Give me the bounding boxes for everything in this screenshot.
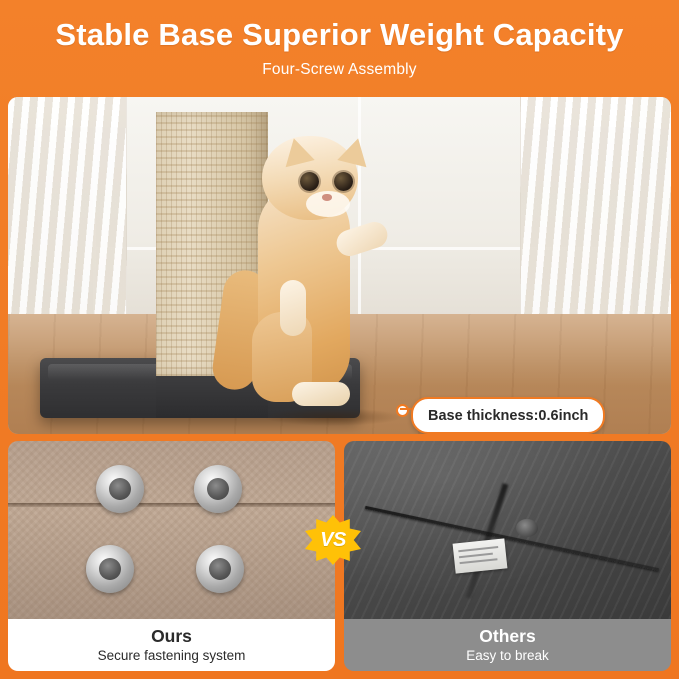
ours-base-seam — [8, 503, 335, 507]
others-label: Others Easy to break — [344, 619, 671, 671]
ours-subtitle: Secure fastening system — [98, 647, 246, 665]
comparison-panel-ours: Ours Secure fastening system — [8, 441, 335, 671]
header: Stable Base Superior Weight Capacity Fou… — [0, 0, 679, 96]
others-title: Others — [479, 626, 535, 647]
cat-ear-left — [279, 135, 314, 167]
comparison-panel-others: Others Easy to break — [344, 441, 671, 671]
cat-ear-right — [337, 135, 372, 167]
cat-front-paw-lower — [280, 280, 306, 336]
cat-nose — [322, 194, 332, 201]
ours-carpet-texture — [8, 441, 335, 619]
others-photo — [344, 441, 671, 619]
cat-eye-right — [334, 172, 353, 191]
ours-title: Ours — [151, 626, 192, 647]
others-care-tag — [453, 538, 508, 573]
screw-bottom-left — [86, 545, 134, 593]
others-fabric-texture — [344, 441, 671, 619]
vs-label: VS — [320, 529, 346, 552]
page-subtitle: Four-Screw Assembly — [0, 53, 679, 79]
cat-eye-left — [300, 172, 319, 191]
cat-head — [262, 136, 358, 220]
callout-anchor-dot — [396, 404, 409, 417]
ours-label: Ours Secure fastening system — [8, 619, 335, 671]
product-infographic: Stable Base Superior Weight Capacity Fou… — [0, 0, 679, 679]
cat-hind-paw — [292, 382, 350, 406]
vs-badge: VS — [305, 515, 361, 565]
base-thickness-callout: Base thickness:0.6inch — [411, 397, 605, 434]
screw-top-right — [194, 465, 242, 513]
screw-top-left — [96, 465, 144, 513]
others-loose-knot — [516, 519, 538, 537]
cat — [240, 130, 400, 420]
others-subtitle: Easy to break — [466, 647, 549, 665]
page-title: Stable Base Superior Weight Capacity — [0, 0, 679, 53]
hero-photo: Base thickness:0.6inch — [8, 97, 671, 434]
ours-photo — [8, 441, 335, 619]
screw-bottom-right — [196, 545, 244, 593]
